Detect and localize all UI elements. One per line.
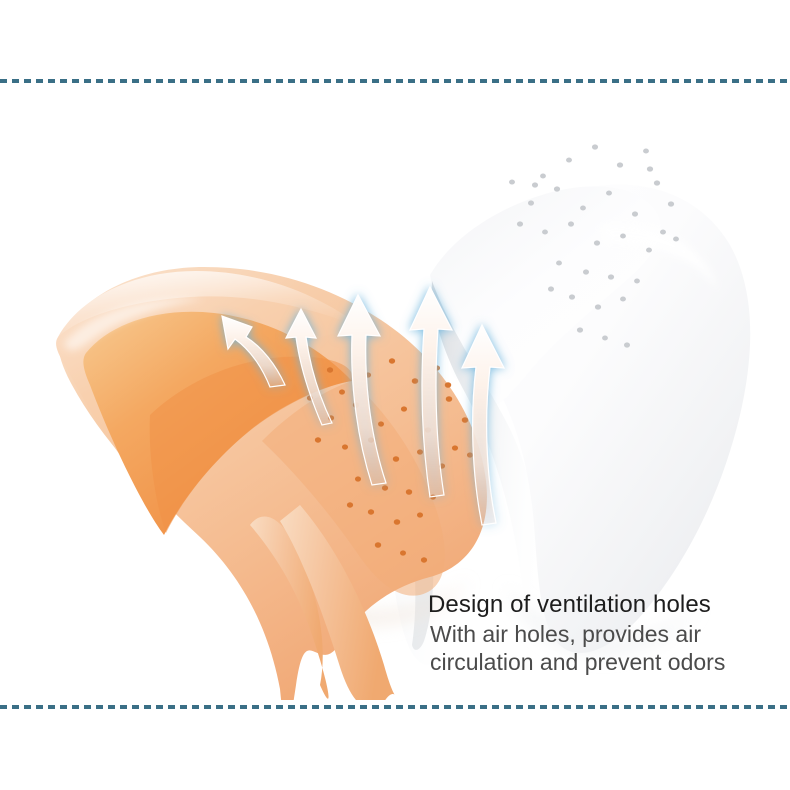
white-vent-hole-1 <box>566 157 572 162</box>
white-vent-hole-20 <box>608 274 614 279</box>
caption-block: Design of ventilation holes With air hol… <box>428 590 778 676</box>
white-vent-hole-4 <box>643 148 649 153</box>
orange-vent-hole-0 <box>339 389 345 394</box>
white-vent-hole-10 <box>654 180 660 185</box>
product-detail-image: Design of ventilation holes With air hol… <box>0 0 790 790</box>
orange-vent-hole-16 <box>327 367 333 372</box>
white-vent-hole-6 <box>554 186 560 191</box>
white-vent-hole-26 <box>548 286 554 291</box>
white-vent-hole-13 <box>594 240 600 245</box>
orange-vent-hole-30 <box>315 437 321 442</box>
white-vent-hole-30 <box>517 221 523 226</box>
bottom-dashed-divider <box>0 705 790 709</box>
white-vent-hole-31 <box>647 166 653 171</box>
orange-vent-hole-23 <box>368 509 374 514</box>
white-vent-hole-0 <box>540 174 546 179</box>
white-vent-hole-18 <box>556 260 562 265</box>
white-vent-hole-15 <box>646 247 652 252</box>
white-vent-hole-28 <box>602 336 608 341</box>
orange-vent-hole-22 <box>452 445 458 450</box>
white-vent-hole-22 <box>660 229 666 234</box>
top-dashed-divider <box>0 79 790 83</box>
orange-vent-hole-14 <box>417 449 423 454</box>
white-vent-hole-16 <box>532 182 538 187</box>
white-vent-hole-17 <box>668 201 674 206</box>
orange-vent-hole-17 <box>462 417 468 423</box>
white-vent-hole-9 <box>632 211 638 216</box>
orange-vent-hole-33 <box>421 557 427 562</box>
white-vent-hole-7 <box>580 206 586 211</box>
orange-vent-hole-13 <box>393 456 399 462</box>
white-vent-hole-23 <box>569 294 575 299</box>
white-vent-hole-2 <box>592 144 598 149</box>
orange-vent-hole-31 <box>445 382 451 388</box>
caption-line-2: With air holes, provides air <box>428 620 778 648</box>
white-vent-hole-3 <box>617 162 623 167</box>
orange-vent-hole-7 <box>378 421 384 426</box>
white-vent-hole-19 <box>583 269 589 274</box>
white-vent-hole-14 <box>620 234 626 239</box>
orange-vent-hole-10 <box>446 396 452 402</box>
white-vent-hole-8 <box>606 190 612 195</box>
orange-vent-hole-3 <box>412 378 418 384</box>
orange-vent-hole-32 <box>467 452 473 457</box>
white-vent-hole-12 <box>568 221 574 226</box>
orange-vent-hole-18 <box>355 476 361 481</box>
orange-vent-hole-24 <box>394 519 400 525</box>
orange-vent-hole-28 <box>400 550 406 555</box>
orange-vent-hole-2 <box>389 358 395 363</box>
white-vent-hole-11 <box>542 229 548 234</box>
white-vent-hole-5 <box>528 200 534 205</box>
orange-vent-hole-11 <box>342 444 348 449</box>
white-vent-hole-25 <box>620 296 626 301</box>
white-vent-hole-21 <box>634 279 640 284</box>
caption-title: Design of ventilation holes <box>428 590 778 620</box>
white-vent-hole-33 <box>624 342 630 347</box>
orange-vent-hole-25 <box>417 512 423 517</box>
white-vent-hole-24 <box>595 304 601 309</box>
orange-vent-hole-27 <box>375 542 381 548</box>
orange-vent-hole-26 <box>347 502 353 507</box>
white-vent-hole-27 <box>577 327 583 332</box>
orange-vent-hole-8 <box>401 406 407 411</box>
orange-vent-hole-19 <box>382 485 388 490</box>
caption-line-3: circulation and prevent odors <box>428 648 778 676</box>
orange-vent-hole-20 <box>406 489 412 495</box>
white-vent-hole-32 <box>673 236 679 241</box>
white-vent-hole-29 <box>509 179 515 184</box>
